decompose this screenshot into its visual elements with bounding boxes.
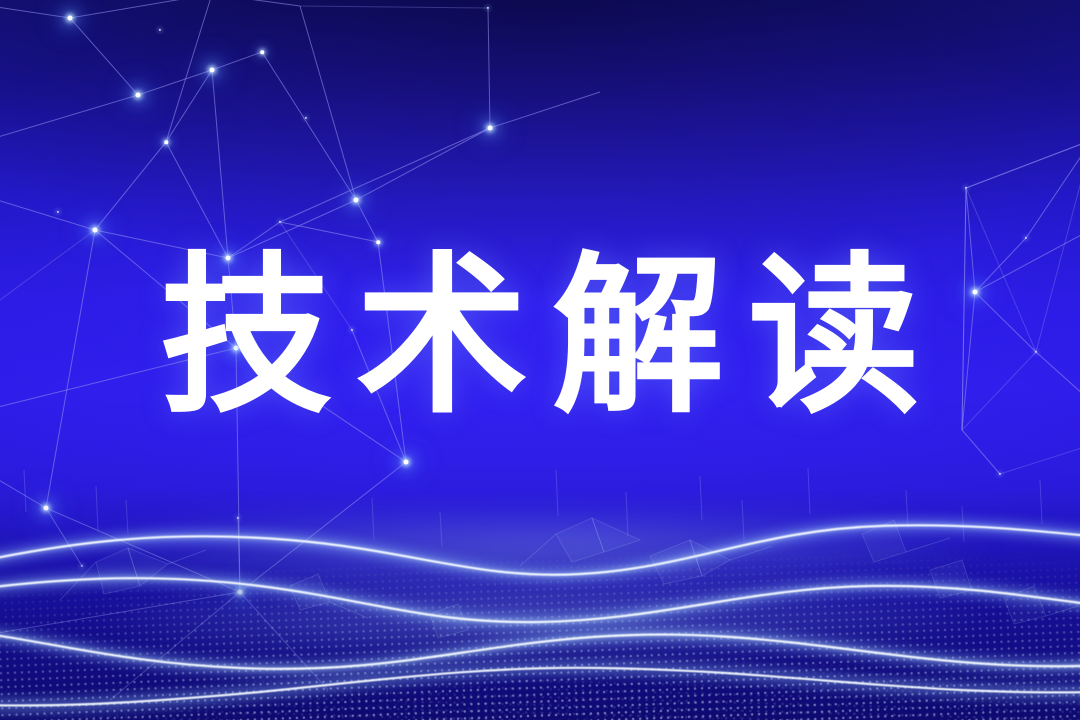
network-node	[68, 16, 73, 21]
network-node	[354, 198, 359, 203]
network-node	[488, 126, 493, 131]
poster-canvas: 技术解读	[0, 0, 1080, 720]
headline-block: 技术解读	[0, 244, 1080, 430]
network-node	[136, 93, 141, 98]
network-node	[210, 68, 215, 73]
network-node	[404, 460, 409, 465]
particle-wave-terrain	[0, 490, 1080, 720]
network-node	[260, 50, 264, 54]
wave-shading	[0, 490, 1080, 720]
page-title: 技术解读	[136, 244, 944, 430]
network-node	[93, 228, 98, 233]
network-node	[164, 140, 168, 144]
